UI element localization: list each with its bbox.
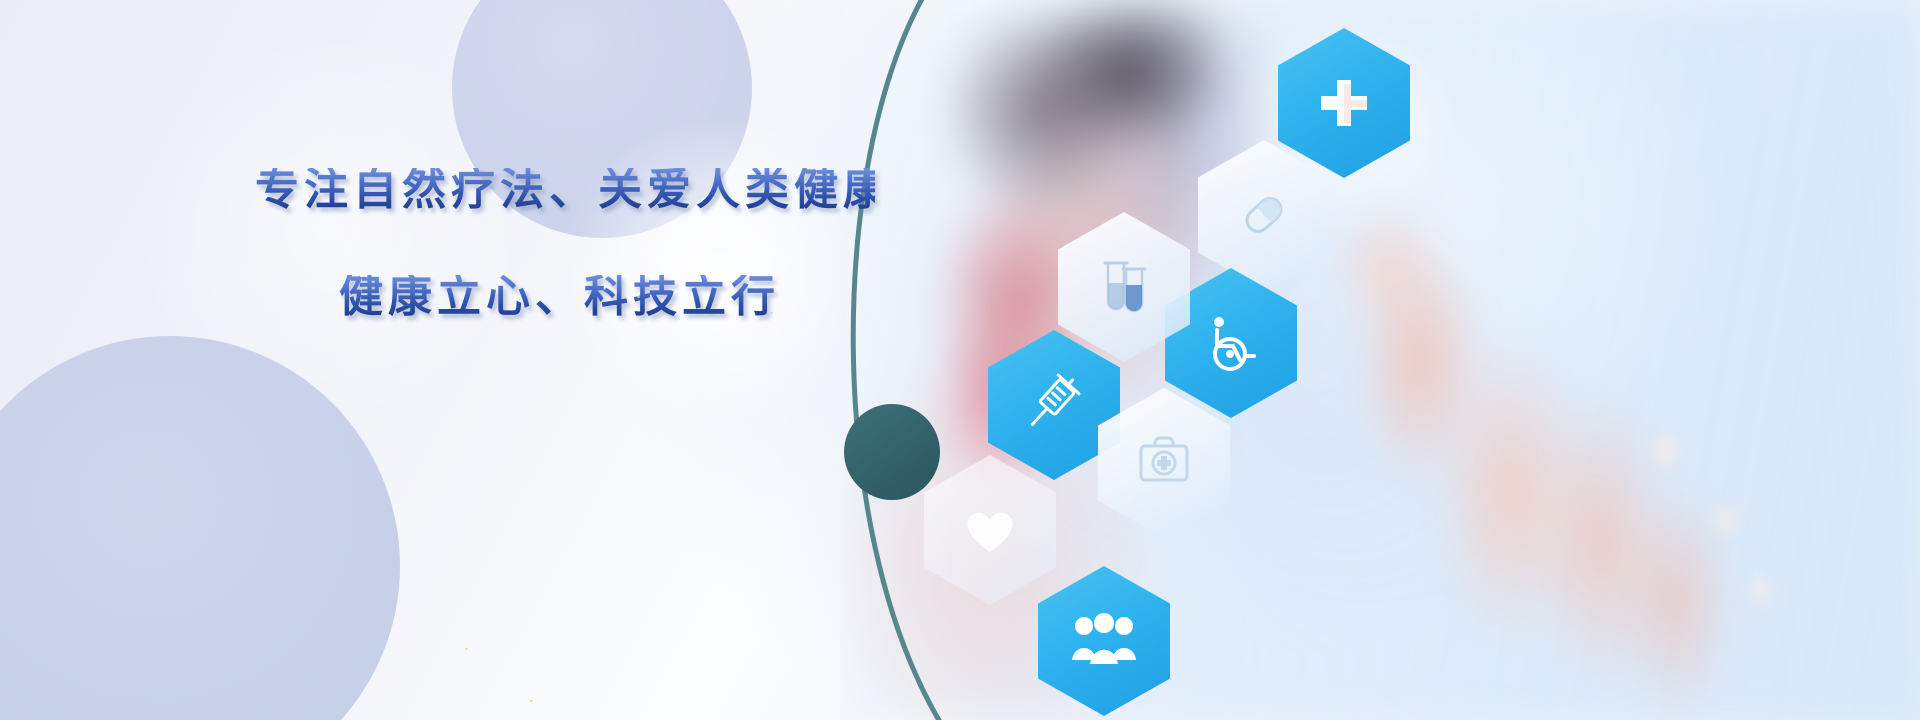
blurred-fingernails xyxy=(1595,380,1825,640)
heart-icon xyxy=(958,498,1022,562)
headline-line-2: 健康立心、科技立行 xyxy=(339,275,875,319)
hexagon-icon-cluster xyxy=(930,0,1490,720)
healthcare-hero-banner: 专注自然疗法、关爱人类健康 健康立心、科技立行 xyxy=(0,0,1920,720)
medical-cross-icon xyxy=(1315,74,1373,132)
teal-circle-node xyxy=(844,404,940,500)
artifact-speck xyxy=(637,296,640,298)
test-tubes-icon xyxy=(1092,255,1156,319)
artifact-speck xyxy=(413,202,416,204)
headline-block: 专注自然疗法、关爱人类健康 健康立心、科技立行 xyxy=(255,168,875,319)
hex-heart[interactable] xyxy=(924,455,1056,605)
syringe-icon xyxy=(1021,372,1087,438)
artifact-speck xyxy=(465,648,468,650)
headline-line-1: 专注自然疗法、关爱人类健康 xyxy=(255,168,875,212)
people-group-icon xyxy=(1070,612,1138,670)
medical-kit-icon xyxy=(1133,432,1195,494)
artifact-speck xyxy=(530,700,533,702)
hex-people[interactable] xyxy=(1038,566,1170,716)
pill-capsule-icon xyxy=(1233,184,1295,246)
wheelchair-icon xyxy=(1200,312,1262,374)
artifact-speck xyxy=(770,312,773,314)
